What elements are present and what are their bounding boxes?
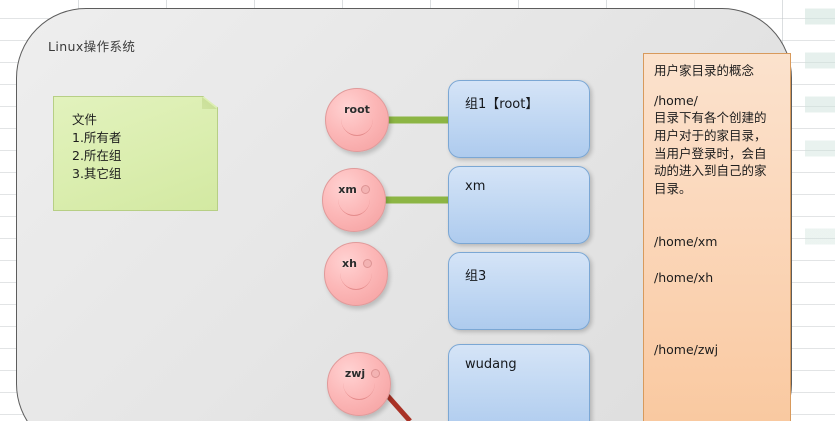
panel-description: 目录下有各个创建的 用户对于的家目录， 当用户登录时，会自 动的进入到自己的家 … <box>654 109 784 198</box>
note-text-block: 文件 1.所有者 2.所在组 3.其它组 <box>72 111 207 184</box>
user-label-xh: xh <box>312 257 387 270</box>
home-directory-panel: 用户家目录的概念 /home/ 目录下有各个创建的 用户对于的家目录， 当用户登… <box>643 53 791 421</box>
group-box-wudang[interactable]: wudang <box>448 344 590 421</box>
note-line-0: 文件 <box>72 111 207 129</box>
panel-desc-line-4: 目录。 <box>654 180 784 198</box>
smile-icon <box>338 199 370 216</box>
panel-path-xm: /home/xm <box>654 233 784 251</box>
file-attributes-note: 文件 1.所有者 2.所在组 3.其它组 <box>53 96 218 211</box>
smile-icon <box>341 119 373 136</box>
panel-desc-line-2: 当用户登录时，会自 <box>654 145 784 163</box>
panel-path-root: /home/ <box>654 92 784 110</box>
user-circle-root[interactable]: root <box>325 88 389 152</box>
panel-desc-line-1: 用户对于的家目录， <box>654 127 784 145</box>
grid-right-column-tint <box>805 0 835 421</box>
smile-icon <box>340 273 372 290</box>
note-line-3: 3.其它组 <box>72 165 207 183</box>
group-box-1[interactable]: 组1【root】 <box>448 80 590 158</box>
diagram-canvas: Linux操作系统 文件 1.所有者 2.所在组 3.其它组 root <box>0 0 835 421</box>
eye-icon <box>361 185 370 194</box>
note-line-1: 1.所有者 <box>72 129 207 147</box>
user-label-xm: xm <box>310 183 385 196</box>
note-line-2: 2.所在组 <box>72 147 207 165</box>
group-label-wudang: wudang <box>465 357 517 372</box>
eye-icon <box>371 369 380 378</box>
panel-path-xh: /home/xh <box>654 269 784 287</box>
group-label-3: 组3 <box>465 265 486 284</box>
smile-icon <box>343 383 375 400</box>
os-title-label: Linux操作系统 <box>48 36 135 55</box>
group-label-xm: xm <box>465 179 485 194</box>
user-circle-xh[interactable]: xh <box>324 242 388 306</box>
user-circle-xm[interactable]: xm <box>322 168 386 232</box>
user-label-root: root <box>326 103 388 116</box>
panel-desc-line-3: 动的进入到自己的家 <box>654 162 784 180</box>
panel-title: 用户家目录的概念 <box>654 62 784 80</box>
user-circle-zwj[interactable]: zwj <box>327 352 391 416</box>
group-label-1: 组1【root】 <box>465 93 538 112</box>
eye-icon <box>363 259 372 268</box>
panel-desc-line-0: 目录下有各个创建的 <box>654 109 784 127</box>
group-box-xm[interactable]: xm <box>448 166 590 244</box>
panel-path-zwj: /home/zwj <box>654 341 784 359</box>
group-box-3[interactable]: 组3 <box>448 252 590 330</box>
